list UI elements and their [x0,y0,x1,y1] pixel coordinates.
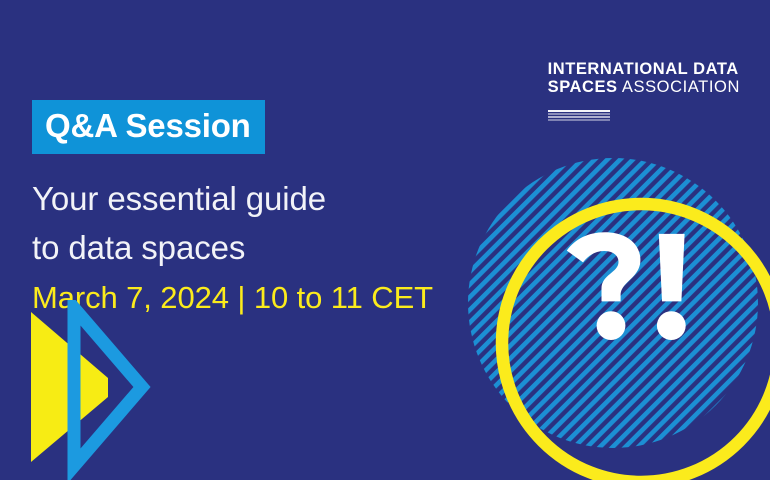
question-exclamation-glyphs [567,232,686,340]
rule-line-4 [548,119,610,121]
logo-line-2: SPACES ASSOCIATION [548,78,740,96]
idsa-arrow-mark [22,300,172,480]
yellow-ring [502,204,770,480]
headline-line-2: to data spaces [32,224,462,273]
headline-block: Q&A Session Your essential guide to data… [32,100,462,317]
headline-line-1: Your essential guide [32,175,462,224]
event-banner: Q&A Session Your essential guide to data… [0,0,770,480]
logo-line-1: INTERNATIONAL DATA [548,60,740,78]
page-title: Your essential guide to data spaces [32,175,462,273]
idsa-rule-mark [548,110,610,122]
rule-line-3 [548,116,610,118]
rule-line-2 [548,113,610,115]
logo-association-word: ASSOCIATION [618,78,740,96]
eyebrow-badge: Q&A Session [32,100,265,154]
idsa-logo: INTERNATIONAL DATA SPACES ASSOCIATION [548,60,740,122]
rule-line-1 [548,110,610,112]
logo-spaces-word: SPACES [548,78,618,96]
striped-circle [468,158,758,448]
